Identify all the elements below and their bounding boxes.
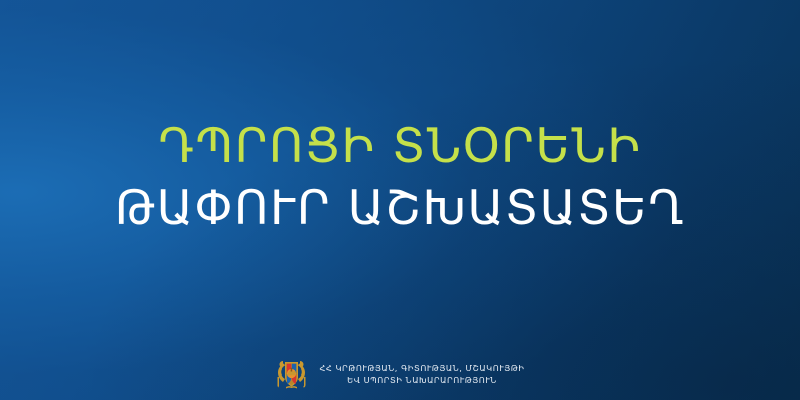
headline-line-1: ԴՊՐՈՑԻ ՏՆՕՐԵՆԻ: [0, 116, 800, 178]
armenia-coat-of-arms-icon: [276, 355, 307, 392]
ministry-name-line-1: ՀՀ ԿՐԹՈՒԹՅԱՆ, ԳԻՏՈՒԹՅԱՆ, ՄՇԱԿՈՒՅԹԻ: [320, 363, 525, 373]
ministry-name-line-2: ԵՎ ՍՊՈՐՏԻ ՆԱԽԱՐԱՐՈՒԹՅՈՒՆ: [347, 375, 497, 385]
footer-branding: ՀՀ ԿՐԹՈՒԹՅԱՆ, ԳԻՏՈՒԹՅԱՆ, ՄՇԱԿՈՒՅԹԻ ԵՎ ՍՊ…: [0, 355, 800, 392]
headline-block: ԴՊՐՈՑԻ ՏՆՕՐԵՆԻ ԹԱՓՈՒՐ ԱՇԽԱՏԱՏԵՂ: [0, 116, 800, 240]
ministry-name: ՀՀ ԿՐԹՈՒԹՅԱՆ, ԳԻՏՈՒԹՅԱՆ, ՄՇԱԿՈՒՅԹԻ ԵՎ ՍՊ…: [320, 363, 525, 385]
announcement-poster: ԴՊՐՈՑԻ ՏՆՕՐԵՆԻ ԹԱՓՈՒՐ ԱՇԽԱՏԱՏԵՂ: [0, 0, 800, 400]
headline-line-2: ԹԱՓՈՒՐ ԱՇԽԱՏԱՏԵՂ: [0, 178, 800, 240]
